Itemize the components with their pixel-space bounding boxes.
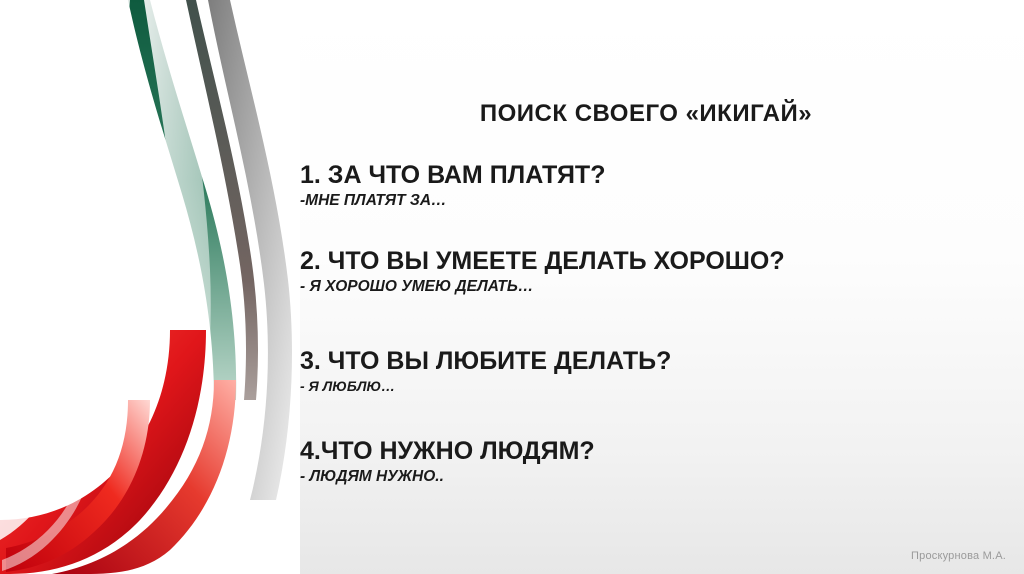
question-4: 4.ЧТО НУЖНО ЛЮДЯМ? [300,438,1000,466]
qa-block-2: 2. ЧТО ВЫ УМЕЕТЕ ДЕЛАТЬ ХОРОШО? - Я ХОРО… [300,248,1000,295]
qa-block-1: 1. ЗА ЧТО ВАМ ПЛАТЯТ? -МНЕ ПЛАТЯТ ЗА… [300,162,1000,209]
decorative-ribbon-artwork [0,0,300,574]
qa-block-3: 3. ЧТО ВЫ ЛЮБИТЕ ДЕЛАТЬ? - Я ЛЮБЛЮ… [300,348,1000,394]
answer-3: - Я ЛЮБЛЮ… [300,378,1000,394]
question-2: 2. ЧТО ВЫ УМЕЕТЕ ДЕЛАТЬ ХОРОШО? [300,248,1000,276]
ribbon-svg [0,0,300,574]
question-3: 3. ЧТО ВЫ ЛЮБИТЕ ДЕЛАТЬ? [300,348,1000,376]
answer-4: - ЛЮДЯМ НУЖНО.. [300,468,1000,486]
question-1: 1. ЗА ЧТО ВАМ ПЛАТЯТ? [300,162,1000,190]
presentation-slide: ПОИСК СВОЕГО «ИКИГАЙ» 1. ЗА ЧТО ВАМ ПЛАТ… [0,0,1024,574]
answer-2: - Я ХОРОШО УМЕЮ ДЕЛАТЬ… [300,278,1000,296]
answer-1: -МНЕ ПЛАТЯТ ЗА… [300,192,1000,210]
author-credit: Проскурнова М.А. [911,550,1006,562]
page-title: ПОИСК СВОЕГО «ИКИГАЙ» [296,100,996,128]
qa-block-4: 4.ЧТО НУЖНО ЛЮДЯМ? - ЛЮДЯМ НУЖНО.. [300,438,1000,485]
